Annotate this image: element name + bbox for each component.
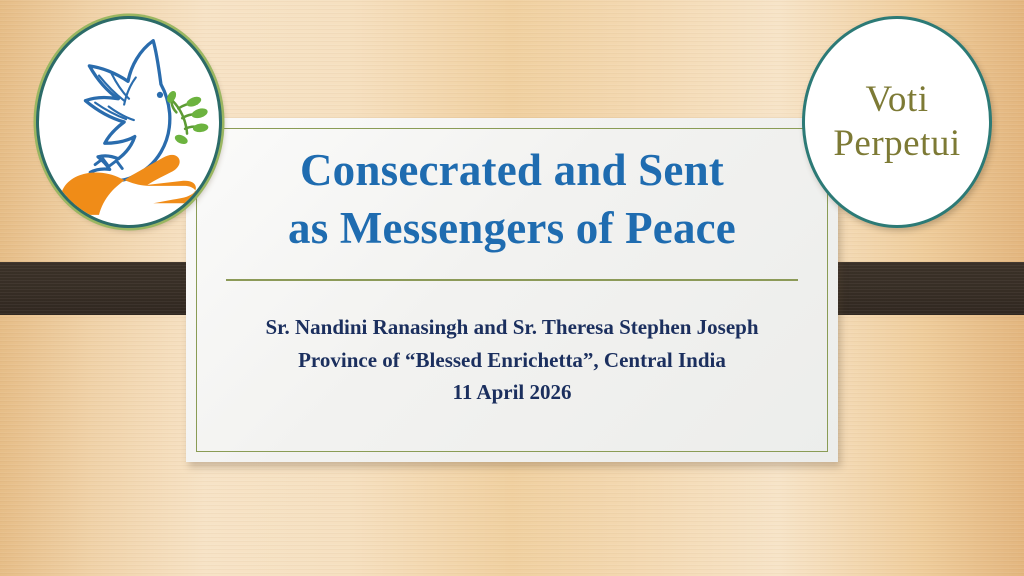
dove-eye-icon <box>157 92 163 98</box>
voti-line-2: Perpetui <box>833 122 960 166</box>
subtitle-province: Province of “Blessed Enrichetta”, Centra… <box>220 344 804 377</box>
subtitle: Sr. Nandini Ranasingh and Sr. Theresa St… <box>220 311 804 409</box>
logo-badge <box>36 16 222 228</box>
title-line-1: Consecrated and Sent <box>220 142 804 200</box>
olive-leaves-icon <box>165 89 209 145</box>
title-card: Consecrated and Sent as Messengers of Pe… <box>186 118 838 462</box>
voti-line-1: Voti <box>833 78 960 122</box>
page-title: Consecrated and Sent as Messengers of Pe… <box>220 142 804 257</box>
subtitle-presenters: Sr. Nandini Ranasingh and Sr. Theresa St… <box>220 311 804 344</box>
title-line-2: as Messengers of Peace <box>220 200 804 258</box>
presentation-slide: Consecrated and Sent as Messengers of Pe… <box>0 0 1024 576</box>
dove-icon <box>85 41 169 181</box>
card-content: Consecrated and Sent as Messengers of Pe… <box>186 118 838 462</box>
voti-perpetui-badge: Voti Perpetui <box>802 16 992 228</box>
subtitle-date: 11 April 2026 <box>220 376 804 409</box>
voti-perpetui-text: Voti Perpetui <box>833 78 960 165</box>
title-divider <box>226 279 798 281</box>
dove-peace-logo-icon <box>39 19 219 225</box>
